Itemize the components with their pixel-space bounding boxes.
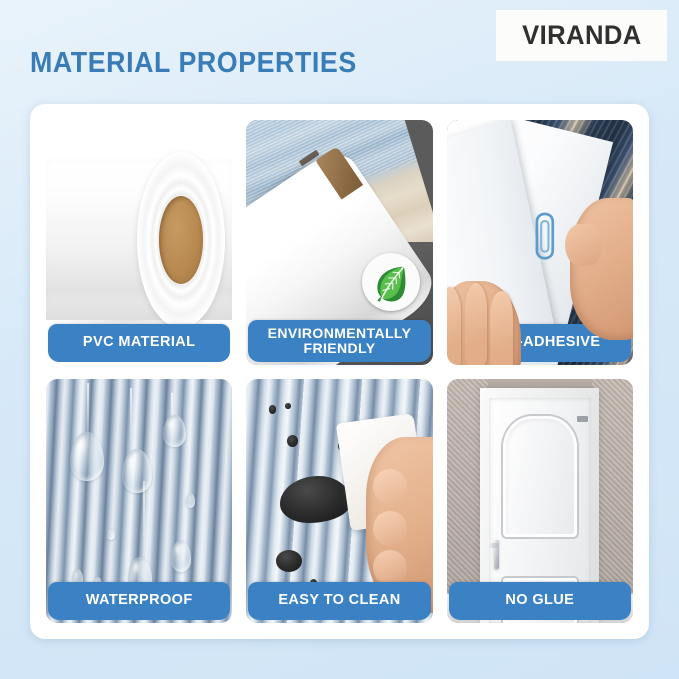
finger [465, 283, 487, 364]
finger [490, 291, 512, 364]
feature-tile-easy-to-clean[interactable]: EASY TO CLEAN [246, 379, 432, 624]
features-card: PVC MATERIAL [30, 104, 649, 639]
leaf-icon [370, 261, 412, 303]
water-droplet [107, 528, 114, 540]
feature-label-line-1: ENVIRONMENTALLY [264, 326, 416, 341]
door-latch [577, 416, 588, 422]
stain [269, 405, 276, 413]
knuckle [373, 469, 407, 504]
feature-tile-self-adhesive[interactable]: SELF-ADHESIVE [447, 120, 633, 365]
feature-tile-no-glue[interactable]: NO GLUE [447, 379, 633, 624]
feature-label-environmentally-friendly: ENVIRONMENTALLY FRIENDLY [248, 320, 430, 362]
finger [447, 287, 462, 364]
stain [276, 550, 302, 572]
features-grid: PVC MATERIAL [46, 120, 633, 623]
feature-label-no-glue: NO GLUE [449, 582, 631, 620]
water-droplet [186, 493, 195, 508]
feature-tile-environmentally-friendly[interactable]: ENVIRONMENTALLY FRIENDLY [246, 120, 432, 365]
knuckle [373, 511, 407, 546]
page-title: MATERIAL PROPERTIES [30, 47, 357, 80]
no-glue-door-photo: NO GLUE [447, 379, 633, 624]
feature-label-easy-to-clean: EASY TO CLEAN [248, 582, 430, 620]
header: MATERIAL PROPERTIES VIRANDA [0, 0, 679, 105]
thumb [565, 224, 601, 267]
brand-name: VIRANDA [522, 20, 642, 51]
roll-cardboard-core [159, 196, 204, 284]
right-hand [570, 198, 633, 340]
feature-label-text: WATERPROOF [82, 593, 197, 608]
feature-label-text: NO GLUE [501, 593, 578, 608]
paperclip-icon [529, 201, 561, 274]
feature-tile-waterproof[interactable]: WATERPROOF [46, 379, 232, 624]
water-droplet [70, 432, 104, 481]
water-droplet [163, 415, 185, 447]
easy-to-clean-photo: EASY TO CLEAN [246, 379, 432, 624]
feature-label-text: PVC MATERIAL [79, 335, 199, 350]
feature-label-pvc-material: PVC MATERIAL [48, 324, 230, 362]
infographic-page: MATERIAL PROPERTIES VIRANDA PVC MATERIAL [0, 0, 679, 679]
waterproof-photo: WATERPROOF [46, 379, 232, 624]
brand-logo: VIRANDA [496, 10, 667, 61]
knuckle [373, 550, 407, 585]
water-trail [130, 388, 132, 442]
feature-tile-pvc-material[interactable]: PVC MATERIAL [46, 120, 232, 365]
feature-label-line-2: FRIENDLY [264, 341, 416, 356]
water-trail [143, 481, 145, 554]
leaf-badge [362, 253, 420, 311]
stain [280, 476, 351, 522]
door-top-panel [503, 416, 577, 538]
door-handle [494, 540, 499, 569]
feature-label-text: EASY TO CLEAN [274, 593, 404, 608]
feature-label-waterproof: WATERPROOF [48, 582, 230, 620]
